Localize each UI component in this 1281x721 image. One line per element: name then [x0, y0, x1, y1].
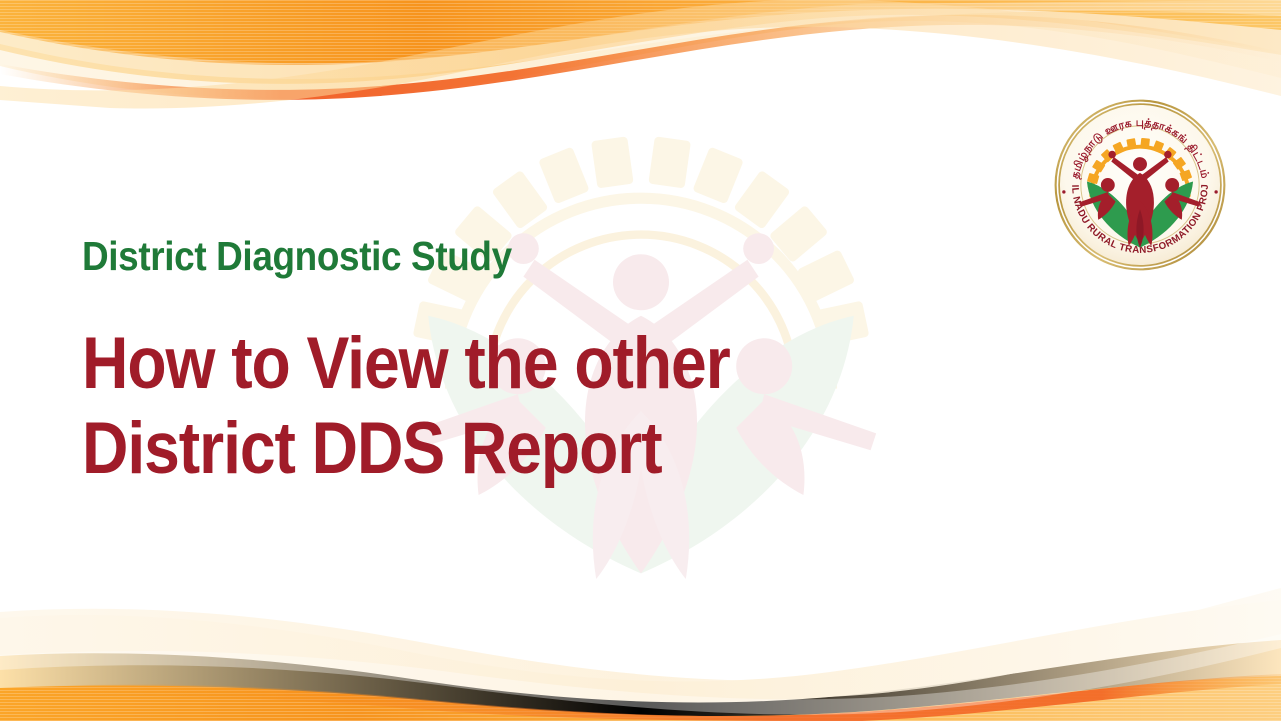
slide-title: How to View the other District DDS Repor… [82, 321, 839, 492]
top-wave-group [0, 0, 1281, 109]
slide-title-line-2: District DDS Report [82, 406, 839, 491]
slide-text-block: District Diagnostic Study How to View th… [82, 236, 942, 492]
tnrtp-logo: தமிழ்நாடு ஊரக புத்தாக்கங் திட்டம் TAMIL … [1053, 98, 1227, 272]
bottom-wave-group [0, 588, 1281, 721]
title-slide: தமிழ்நாடு ஊரக புத்தாக்கங் திட்டம் TAMIL … [0, 0, 1281, 721]
slide-title-line-1: How to View the other [82, 321, 839, 406]
slide-subtitle: District Diagnostic Study [82, 236, 856, 277]
